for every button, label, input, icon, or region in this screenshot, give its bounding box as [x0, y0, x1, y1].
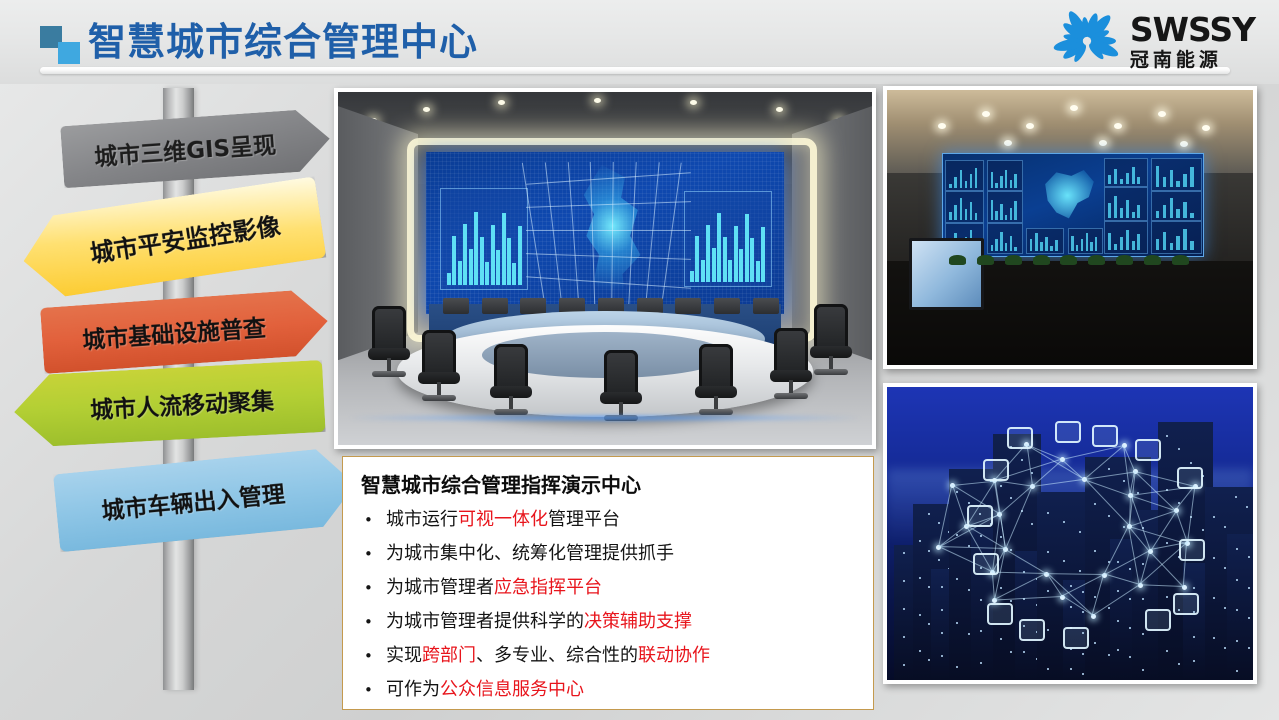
- ceiling-light: [1026, 123, 1034, 129]
- office-chair: [416, 330, 462, 404]
- chart-bar: [1000, 232, 1002, 251]
- chart-bar: [1120, 179, 1123, 184]
- desk-plant: [1033, 255, 1050, 265]
- window-light: [956, 578, 958, 580]
- window-light: [1117, 649, 1119, 651]
- bar: [756, 261, 760, 282]
- office-chair: [693, 344, 739, 418]
- chart-bar: [1170, 198, 1173, 218]
- photo-led-wall-image: [887, 90, 1253, 365]
- window-light: [1236, 579, 1238, 581]
- window-light: [1108, 515, 1110, 517]
- window-light: [919, 577, 921, 579]
- bar: [734, 226, 738, 283]
- sign-city-crowd-flow[interactable]: 城市人流移动聚集: [12, 360, 325, 448]
- bar: [452, 236, 456, 285]
- bar: [761, 227, 765, 283]
- window-light: [1070, 668, 1072, 670]
- bullet-highlight-text: 联动协作: [638, 645, 710, 666]
- bar: [502, 213, 506, 285]
- bar: [447, 273, 451, 285]
- chart-bar: [1156, 211, 1159, 218]
- chart-bar: [1176, 209, 1179, 218]
- chart-bar: [1095, 237, 1097, 251]
- chart-bar: [1108, 175, 1111, 183]
- photo-smart-city-image: [887, 387, 1253, 680]
- window-light: [1166, 650, 1168, 652]
- bar: [512, 263, 516, 285]
- ceiling-light: [1114, 123, 1122, 129]
- window-light: [1193, 636, 1195, 638]
- train-icon: [1177, 467, 1203, 489]
- chart-bar: [1035, 233, 1038, 251]
- window-light: [903, 636, 905, 638]
- chart-bar: [1120, 208, 1123, 218]
- header-square-light-icon: [58, 42, 80, 64]
- map-road: [545, 162, 562, 304]
- bar: [507, 238, 511, 285]
- wall-tile: [1068, 228, 1104, 254]
- window-light: [928, 513, 930, 515]
- bullet-item: 城市运行可视一体化管理平台: [359, 503, 864, 537]
- feature-bullet-list: 城市运行可视一体化管理平台为城市集中化、统筹化管理提供抓手为城市管理者应急指挥平…: [359, 503, 864, 707]
- bar: [750, 238, 754, 282]
- cloud-icon: [983, 459, 1009, 481]
- window-light: [1236, 670, 1238, 672]
- window-light: [1070, 585, 1072, 587]
- window-light: [1246, 506, 1248, 508]
- building: [1227, 534, 1253, 681]
- desk-plant: [977, 255, 994, 265]
- bullet-highlight-text: 应急指挥平台: [494, 577, 602, 598]
- window-light: [1079, 531, 1081, 533]
- chart-bar: [975, 213, 978, 220]
- window-light: [1213, 637, 1215, 639]
- bullet-highlight-text: 公众信息服务中心: [440, 679, 584, 700]
- ceiling-light: [1070, 105, 1078, 111]
- window-light: [1166, 435, 1168, 437]
- window-light: [980, 630, 982, 632]
- window-light: [1047, 512, 1049, 514]
- window-light: [1117, 620, 1119, 622]
- wall-tile: [1026, 228, 1064, 254]
- window-light: [956, 491, 958, 493]
- chart-bar: [1090, 242, 1092, 251]
- window-light: [919, 650, 921, 652]
- wall-tile: [1151, 191, 1202, 221]
- window-light: [1224, 567, 1226, 569]
- window-light: [1235, 496, 1237, 498]
- desk-plant: [1005, 255, 1022, 265]
- chart-bar: [949, 212, 952, 220]
- chart-bar: [1014, 247, 1016, 251]
- logo-text-block: SWSSY 冠南能源: [1130, 13, 1255, 70]
- chair-back: [774, 328, 808, 374]
- window-light: [968, 633, 970, 635]
- bar: [474, 212, 478, 285]
- chart-bar: [1190, 241, 1193, 251]
- bullet-text: 城市运行: [386, 509, 458, 530]
- chart-bar: [1170, 243, 1173, 250]
- company-logo: SWSSY 冠南能源: [1054, 8, 1255, 74]
- bullet-text: 、多专业、综合性的: [476, 645, 638, 666]
- wall-tile: [1104, 158, 1148, 186]
- server-icon: [1179, 539, 1205, 561]
- chart-bar: [1010, 180, 1012, 187]
- chart-bar: [1000, 176, 1002, 187]
- signal-tower-icon: [973, 553, 999, 575]
- bullet-text: 为城市管理者: [386, 577, 494, 598]
- tower-icon: [1092, 425, 1118, 447]
- chart-bar: [1163, 177, 1166, 187]
- desk-plant: [1116, 255, 1133, 265]
- region-map-graphic: [1036, 166, 1098, 225]
- chair-back: [494, 344, 528, 390]
- window-light: [1178, 448, 1180, 450]
- office-chair: [366, 306, 412, 380]
- office-chair: [808, 304, 854, 378]
- sign-city-vehicle-access[interactable]: 城市车辆出入管理: [53, 446, 359, 552]
- window-light: [968, 589, 970, 591]
- sign-label: 城市平安监控影像: [21, 200, 323, 279]
- sign-label: 城市基础设施普查: [41, 304, 329, 358]
- home-icon: [967, 505, 993, 527]
- window-light: [1166, 596, 1168, 598]
- chart-bar: [965, 209, 968, 220]
- chart-bar: [1108, 203, 1111, 218]
- ceiling-light: [938, 123, 946, 129]
- chart-bar: [1190, 213, 1193, 218]
- window-light: [1213, 516, 1215, 518]
- bar: [695, 236, 699, 282]
- window-light: [1236, 609, 1238, 611]
- chart-bar: [1005, 243, 1007, 251]
- chair-base: [774, 393, 808, 399]
- phone-icon: [1063, 627, 1089, 649]
- map-road: [526, 230, 691, 231]
- chart-bar: [970, 202, 973, 220]
- photo-control-room-image: [338, 92, 872, 445]
- chart-bar: [1132, 212, 1135, 218]
- chair-base: [814, 369, 848, 375]
- chart-bar: [1137, 205, 1140, 218]
- chart-bar: [1005, 170, 1007, 188]
- window-light: [919, 614, 921, 616]
- ceiling-light: [498, 100, 505, 105]
- chart-bar: [1081, 239, 1083, 251]
- window-light: [1021, 459, 1023, 461]
- building-icon: [1007, 427, 1033, 449]
- window-light: [1079, 570, 1081, 572]
- window-light: [1023, 651, 1025, 653]
- dashboard-panel-right: [684, 191, 772, 287]
- camera-icon: [1145, 609, 1171, 631]
- chart-bar: [1132, 167, 1135, 184]
- window-light: [1142, 633, 1144, 635]
- photo-led-wall-room: [883, 86, 1257, 369]
- desk-plant: [1060, 255, 1077, 265]
- laptop-icon: [1019, 619, 1045, 641]
- window-light: [1248, 647, 1250, 649]
- chart-bar: [960, 198, 963, 220]
- window-light: [1190, 462, 1192, 464]
- ceiling-light: [1202, 125, 1210, 131]
- window-light: [903, 664, 905, 666]
- window-light: [956, 666, 958, 668]
- chair-back: [814, 304, 848, 350]
- window-light: [1224, 607, 1226, 609]
- device-icon: [987, 603, 1013, 625]
- chart-bar: [1120, 237, 1123, 250]
- water-droplet-flower-emblem-icon: [1054, 11, 1120, 71]
- bar: [485, 262, 489, 285]
- window-light: [1213, 557, 1215, 559]
- ceiling-light: [1180, 141, 1188, 147]
- desk-plant: [949, 255, 966, 265]
- chart-bar: [1163, 205, 1166, 218]
- chart-bar: [954, 205, 957, 220]
- office-chair: [488, 344, 534, 418]
- window-light: [1123, 480, 1125, 482]
- sign-label: 城市三维GIS呈现: [61, 122, 331, 175]
- window-light: [1178, 663, 1180, 665]
- bullet-text: 为城市管理者提供科学的: [386, 611, 584, 632]
- sign-city-infrastructure-survey[interactable]: 城市基础设施普查: [40, 288, 330, 374]
- window-light: [1129, 568, 1131, 570]
- chart-bar: [1114, 244, 1117, 250]
- chart-bar: [1126, 200, 1129, 218]
- wall-tile: [1104, 221, 1148, 254]
- chair-base: [372, 371, 406, 377]
- chart-bar: [1055, 240, 1058, 251]
- window-light: [1193, 660, 1195, 662]
- bar: [723, 237, 727, 282]
- chart-bar: [1170, 170, 1173, 187]
- window-light: [1094, 503, 1096, 505]
- map-road: [661, 162, 681, 304]
- console-unit: [443, 298, 469, 314]
- dashboard-panel-left: [440, 188, 528, 291]
- chart-bar: [1045, 237, 1048, 251]
- photo-smart-city-network: [883, 383, 1257, 684]
- window-light: [980, 662, 982, 664]
- chart-bar: [1050, 246, 1053, 251]
- chart-bar: [995, 239, 997, 251]
- chair-base: [494, 409, 528, 415]
- window-light: [903, 608, 905, 610]
- chart-bar: [1126, 230, 1129, 250]
- window-light: [1063, 521, 1065, 523]
- ceiling-light: [594, 98, 601, 103]
- ceiling-light: [776, 107, 783, 112]
- bar: [491, 225, 495, 285]
- chart-bar: [1014, 201, 1016, 220]
- window-light: [1224, 647, 1226, 649]
- ceiling-light: [1004, 140, 1012, 146]
- wall-tile: [987, 223, 1023, 253]
- window-light: [1129, 598, 1131, 600]
- bar: [480, 237, 484, 285]
- floor-light-strip: [349, 416, 862, 420]
- window-light: [941, 586, 943, 588]
- chart-bar: [1108, 233, 1111, 251]
- bar: [518, 226, 522, 285]
- chart-bar: [1086, 233, 1088, 251]
- chart-bar: [1156, 166, 1159, 188]
- map-road: [645, 162, 659, 304]
- wall-tile: [987, 160, 1023, 190]
- window-light: [1142, 598, 1144, 600]
- chart-bar: [1005, 215, 1007, 220]
- window-light: [928, 550, 930, 552]
- bar: [712, 248, 716, 282]
- wall-tile: [987, 191, 1023, 224]
- chart-bar: [995, 183, 997, 188]
- window-light: [1000, 638, 1002, 640]
- window-light: [1010, 600, 1012, 602]
- chart-bar: [1076, 245, 1078, 251]
- chart-bar: [1137, 234, 1140, 250]
- chair-back: [699, 344, 733, 390]
- control-room-artwork: [338, 92, 872, 445]
- sign-label: 城市人流移动聚集: [13, 379, 324, 429]
- chart-bar: [1071, 236, 1073, 251]
- window-light: [1010, 549, 1012, 551]
- chart-bar: [1176, 236, 1179, 250]
- wall-tile: [1151, 158, 1202, 191]
- bar: [458, 261, 462, 285]
- chart-bar: [1132, 241, 1135, 250]
- bar: [469, 249, 473, 285]
- car-icon: [1135, 439, 1161, 461]
- ceiling-light: [982, 111, 990, 117]
- chart-bar: [1176, 181, 1179, 187]
- window-light: [903, 552, 905, 554]
- window-light: [1094, 550, 1096, 552]
- window-light: [1123, 526, 1125, 528]
- window-light: [1000, 587, 1002, 589]
- window-light: [1063, 560, 1065, 562]
- chart-bar: [1040, 242, 1043, 251]
- bullet-text: 为城市集中化、统筹化管理提供抓手: [386, 543, 674, 564]
- window-light: [1236, 548, 1238, 550]
- wall-tile: [1104, 187, 1148, 222]
- window-light: [1108, 468, 1110, 470]
- window-light: [1031, 523, 1033, 525]
- chair-back: [422, 330, 456, 376]
- satellite-icon: [1055, 421, 1081, 443]
- sign-city-3d-gis[interactable]: 城市三维GIS呈现: [60, 108, 332, 189]
- console-unit: [482, 298, 508, 314]
- chart-bar: [975, 168, 978, 188]
- office-chair: [598, 350, 644, 424]
- bullet-text: 实现: [386, 645, 422, 666]
- led-wall-artwork: [887, 90, 1253, 365]
- chart-bar: [1000, 204, 1002, 220]
- window-light: [1129, 627, 1131, 629]
- window-light: [919, 540, 921, 542]
- window-light: [1193, 587, 1195, 589]
- window-light: [1047, 629, 1049, 631]
- window-light: [1202, 529, 1204, 531]
- window-light: [1047, 668, 1049, 670]
- bar: [717, 213, 721, 282]
- chart-bar: [960, 170, 963, 187]
- bullet-highlight-text: 跨部门: [422, 645, 476, 666]
- window-light: [968, 502, 970, 504]
- chart-bar: [1190, 167, 1193, 187]
- window-light: [1000, 536, 1002, 538]
- chair-back: [604, 350, 638, 396]
- wifi-icon: [1173, 593, 1199, 615]
- chart-bar: [1137, 177, 1140, 184]
- window-light: [1047, 590, 1049, 592]
- window-light: [1000, 485, 1002, 487]
- chart-bar: [1163, 232, 1166, 250]
- bullet-text: 可作为: [386, 679, 440, 700]
- bar: [745, 214, 749, 282]
- window-light: [938, 522, 940, 524]
- bullet-item: 为城市管理者应急指挥平台: [359, 571, 864, 605]
- page-title: 智慧城市综合管理中心: [88, 11, 478, 66]
- chart-bar: [1114, 196, 1117, 218]
- bullet-highlight-text: 可视一体化: [458, 509, 548, 530]
- slide-root: 智慧城市综合管理中心 SWSSY 冠南能源 城市三维GIS呈现 城市平安监控影像…: [0, 0, 1279, 720]
- bar: [690, 271, 694, 282]
- desk-plant: [1172, 255, 1189, 265]
- chart-bar: [995, 211, 997, 220]
- chart-bar: [1010, 236, 1012, 251]
- bullet-item: 为城市集中化、统筹化管理提供抓手: [359, 537, 864, 571]
- chart-bar: [1014, 174, 1016, 188]
- bullet-item: 可作为公众信息服务中心: [359, 673, 864, 707]
- wall-tile: [1151, 221, 1202, 254]
- window-light: [1094, 642, 1096, 644]
- window-light: [941, 609, 943, 611]
- window-light: [1213, 597, 1215, 599]
- window-light: [1129, 656, 1131, 658]
- logo-name: SWSSY: [1130, 13, 1255, 46]
- chair-base: [699, 409, 733, 415]
- header-divider: [40, 67, 1230, 74]
- chart-bar: [991, 200, 993, 220]
- smart-city-artwork: [887, 387, 1253, 680]
- ceiling-light: [690, 100, 697, 105]
- bar: [701, 260, 705, 283]
- window-light: [941, 655, 943, 657]
- desk-monitor: [909, 238, 985, 310]
- chart-bar: [970, 174, 973, 187]
- photo-control-room: [334, 88, 876, 449]
- chart-bar: [991, 172, 993, 187]
- window-light: [1224, 526, 1226, 528]
- window-light: [938, 559, 940, 561]
- console-unit: [520, 298, 546, 314]
- description-textbox: 智慧城市综合管理指挥演示中心 城市运行可视一体化管理平台为城市集中化、统筹化管理…: [342, 456, 874, 710]
- ceiling-light: [423, 107, 430, 112]
- bar: [463, 224, 467, 285]
- chair-base: [422, 395, 456, 401]
- console-unit: [714, 298, 740, 314]
- window-light: [1070, 606, 1072, 608]
- chart-bar: [1114, 169, 1117, 184]
- window-light: [903, 580, 905, 582]
- window-light: [1166, 542, 1168, 544]
- window-light: [1047, 551, 1049, 553]
- wall-tile: [945, 160, 983, 190]
- wall-tile: [945, 191, 983, 224]
- chart-bar: [1010, 208, 1012, 220]
